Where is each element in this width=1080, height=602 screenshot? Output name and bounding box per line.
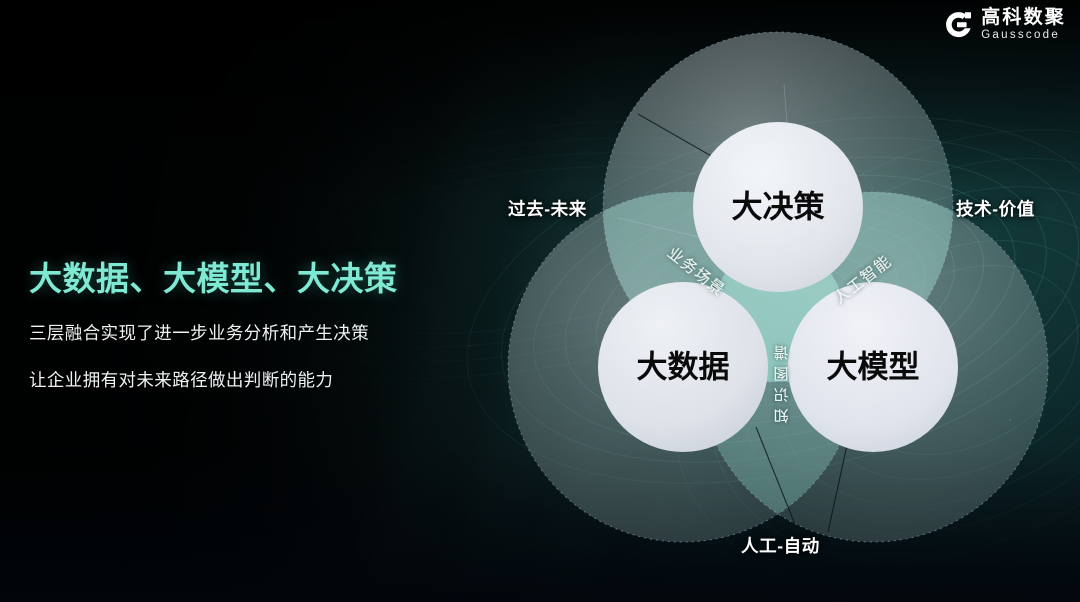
brand-name-cn: 高科数聚 <box>981 8 1066 27</box>
venn-circle-bigdata: 大数据 <box>598 282 768 452</box>
axis-label-past-future: 过去-未来 <box>508 196 587 221</box>
brand-name-en: Gausscode <box>981 30 1066 42</box>
venn-circle-bigmodel: 大模型 <box>788 282 958 452</box>
venn-label-decision: 大决策 <box>732 190 825 225</box>
subtitle-line-1: 三层融合实现了进一步业务分析和产生决策 <box>29 320 499 345</box>
axis-label-tech-value: 技术-价值 <box>956 196 1035 221</box>
axis-label-manual-automatic: 人工-自动 <box>741 533 820 558</box>
left-text-block: 大数据、大模型、大决策 三层融合实现了进一步业务分析和产生决策 让企业拥有对未来… <box>29 252 499 392</box>
subtitle-line-2: 让企业拥有对未来路径做出判断的能力 <box>29 367 499 392</box>
venn-diagram: 大决策 大数据 大模型 业务场景 人工智能 知识图谱 <box>498 22 1058 532</box>
brand-logo-text: 高科数聚 Gausscode <box>981 8 1066 42</box>
page-title: 大数据、大模型、大决策 <box>29 252 499 300</box>
brand-logo: 高科数聚 Gausscode <box>945 8 1066 42</box>
slide-canvas: 高科数聚 Gausscode 大数据、大模型、大决策 三层融合实现了进一步业务分… <box>0 0 1080 602</box>
gausscode-g-mark-icon <box>945 11 972 38</box>
venn-label-bigmodel: 大模型 <box>827 350 920 385</box>
venn-label-bigdata: 大数据 <box>637 350 730 385</box>
venn-circle-decision: 大决策 <box>693 122 863 292</box>
